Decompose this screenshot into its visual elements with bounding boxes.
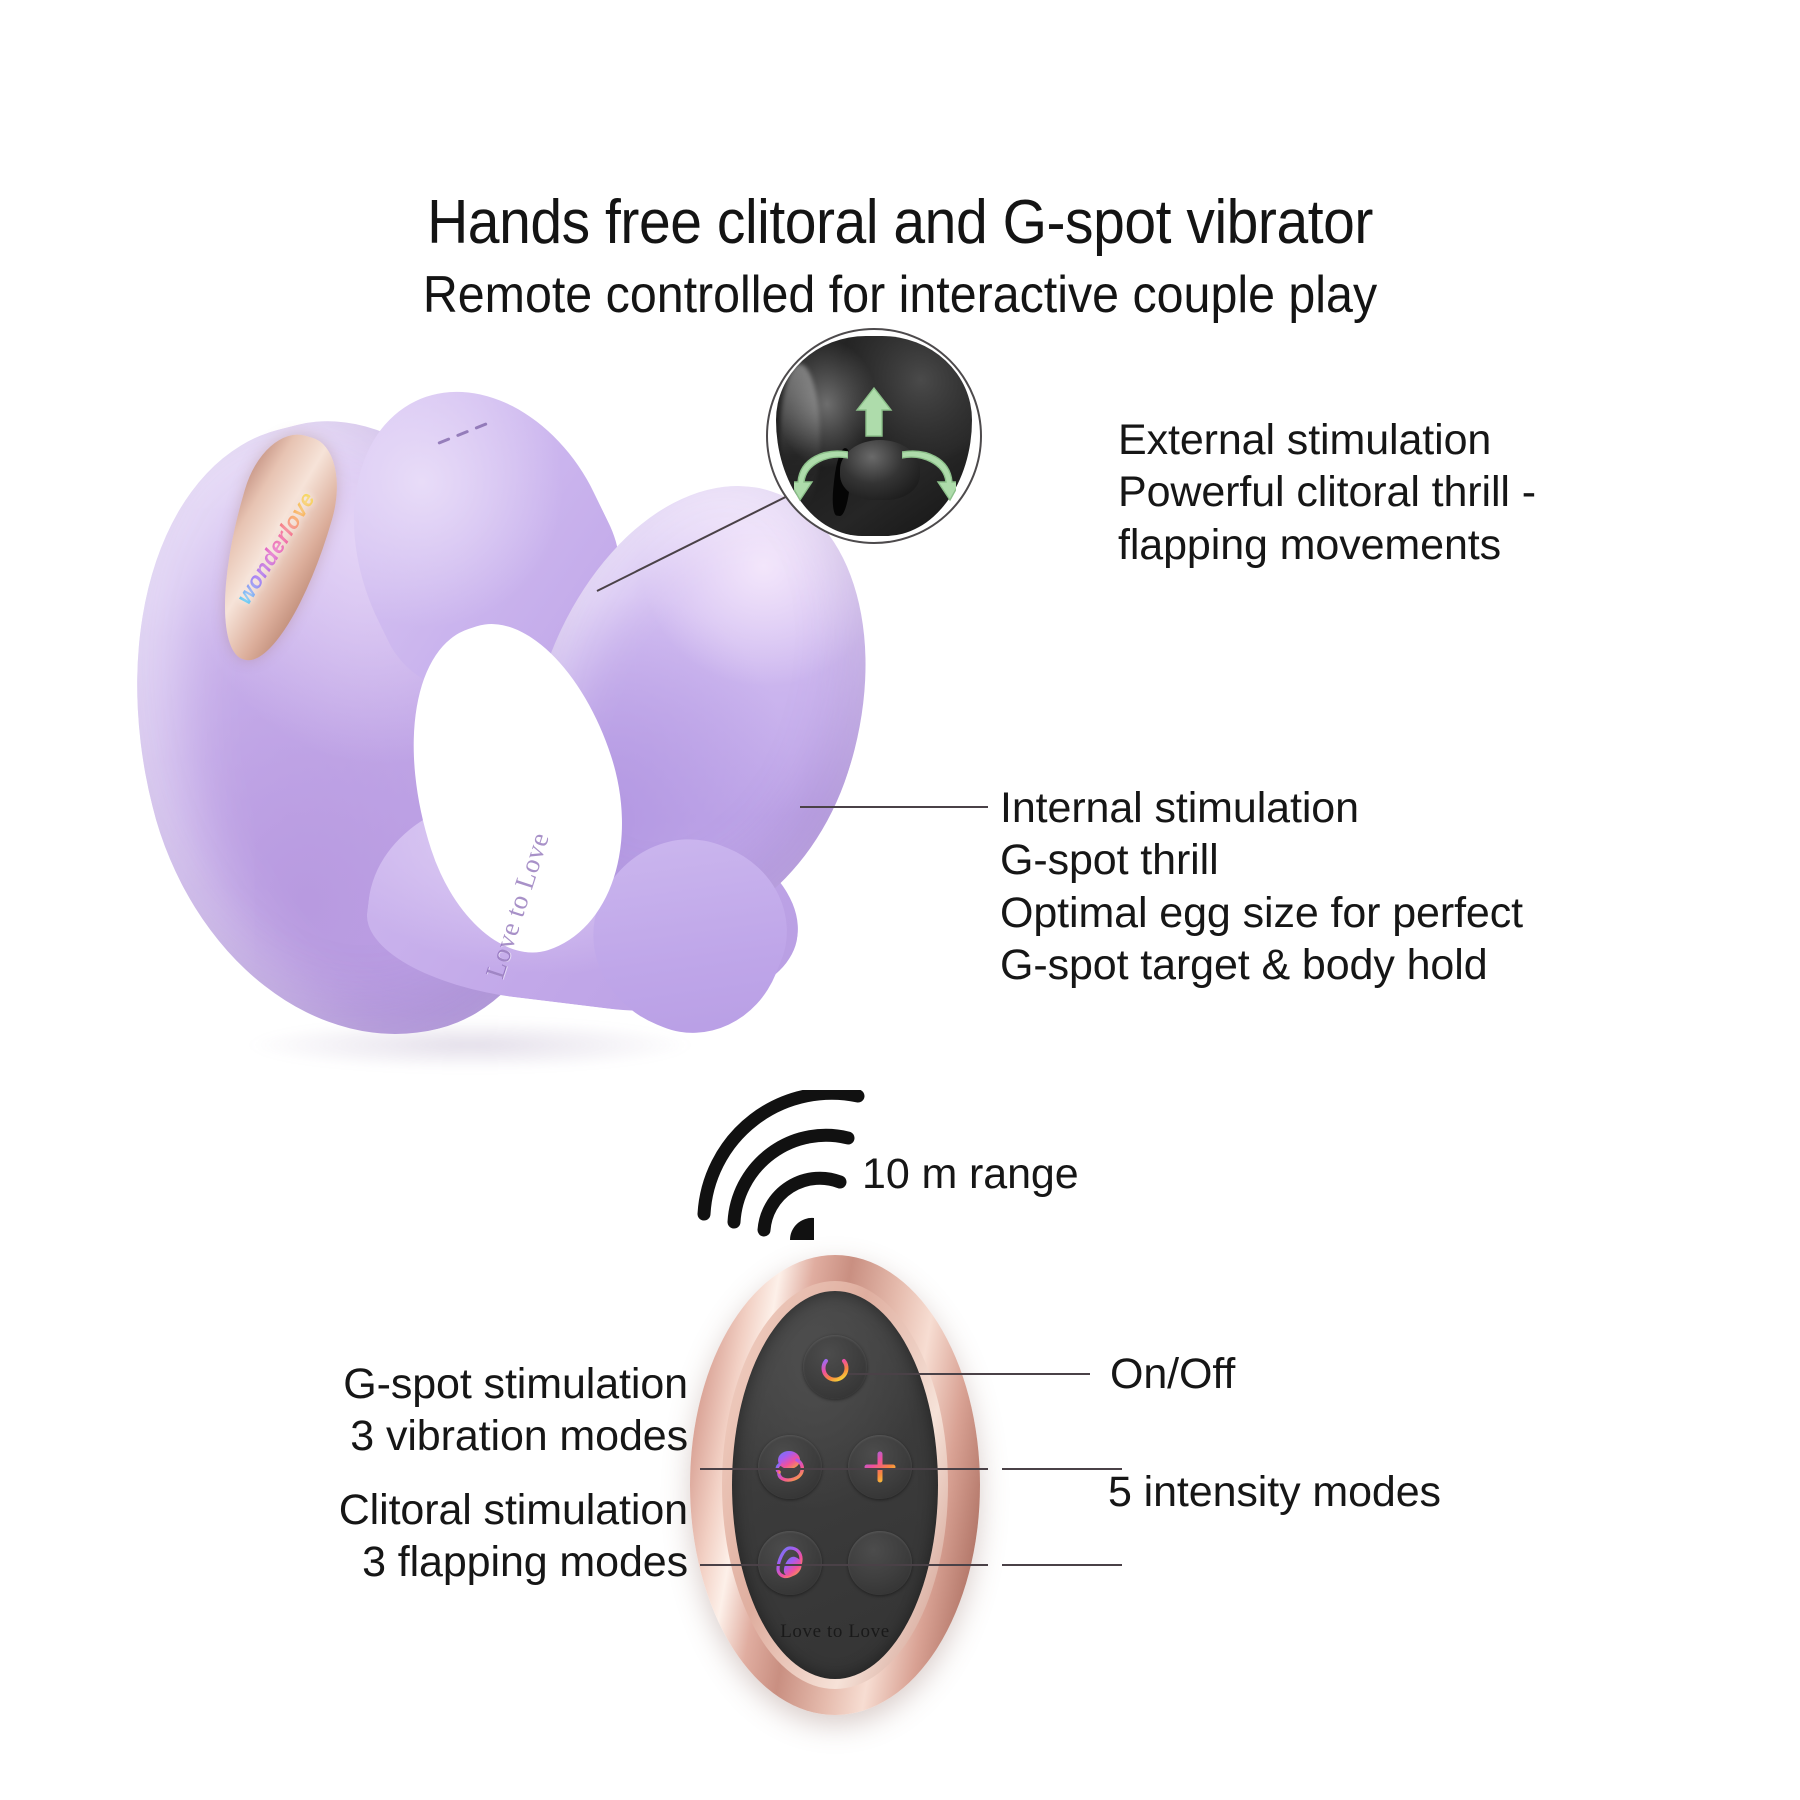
g-spot-mode-button[interactable]: [758, 1435, 822, 1499]
leader-line-clitoral: [700, 1564, 988, 1566]
page-title: Hands free clitoral and G-spot vibrator: [72, 190, 1728, 255]
arrow-curve-left-icon: [794, 450, 848, 502]
remote-button-panel: Love to Love: [732, 1291, 938, 1679]
power-button[interactable]: [803, 1335, 867, 1399]
range-label: 10 m range: [862, 1148, 1262, 1200]
clitoral-modes-label: Clitoral stimulation 3 flapping modes: [238, 1484, 688, 1589]
arrow-up-icon: [854, 386, 894, 438]
external-stimulation-label: External stimulation Powerful clitoral t…: [1118, 414, 1678, 571]
remote-brand-label: Love to Love: [732, 1621, 938, 1643]
intensity-modes-label: 5 intensity modes: [1108, 1466, 1568, 1518]
external-detail-magnifier: [766, 328, 982, 544]
leader-line-intensity-up: [1002, 1468, 1122, 1470]
wireless-range-icon: [690, 1090, 870, 1250]
arrow-curve-right-icon: [902, 450, 956, 502]
leader-line-gspot: [700, 1468, 988, 1470]
g-spot-modes-label: G-spot stimulation 3 vibration modes: [238, 1358, 688, 1463]
on-off-label: On/Off: [1110, 1348, 1410, 1400]
infographic-canvas: Hands free clitoral and G-spot vibrator …: [0, 0, 1800, 1800]
remote-control: Love to Love: [690, 1255, 980, 1715]
leader-line-onoff: [848, 1373, 1090, 1375]
clitoral-mode-button[interactable]: [758, 1531, 822, 1595]
intensity-up-button[interactable]: [848, 1435, 912, 1499]
leader-line-intensity-down: [1002, 1564, 1122, 1566]
leader-line-internal: [800, 806, 988, 808]
internal-stimulation-label: Internal stimulation G-spot thrill Optim…: [1000, 782, 1620, 992]
page-subtitle: Remote controlled for interactive couple…: [63, 268, 1737, 323]
intensity-down-button[interactable]: [848, 1531, 912, 1595]
